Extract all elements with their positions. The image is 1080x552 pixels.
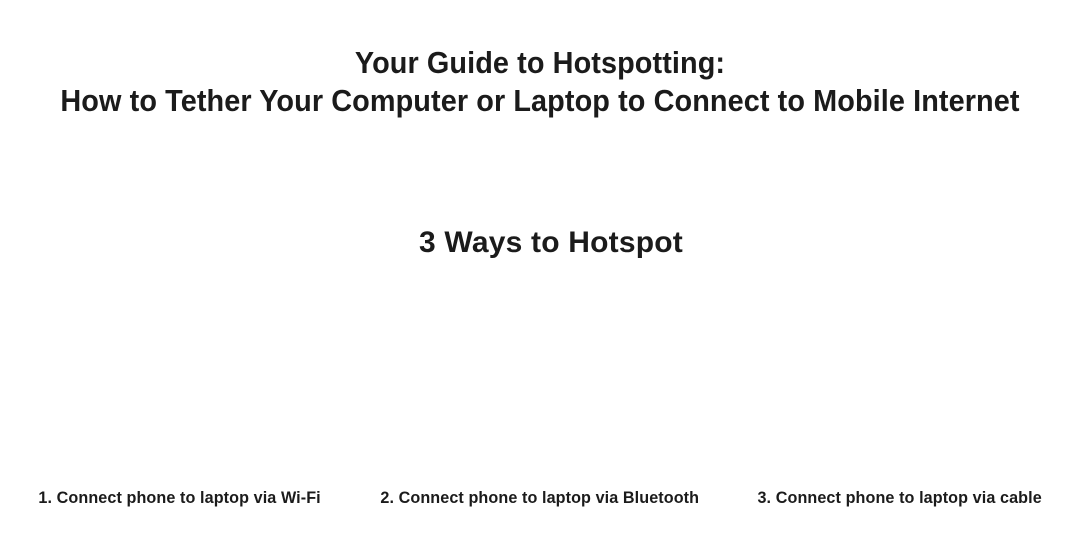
section-heading-label: 3 Ways to Hotspot (397, 224, 683, 262)
method-caption-cable: 3. Connect phone to laptop via cable (758, 486, 1042, 510)
page-title-line-1: Your Guide to Hotspotting: (38, 44, 1042, 82)
method-item-bluetooth: 2. Connect phone to laptop via Bluetooth (360, 486, 720, 510)
method-item-wifi: 1. Connect phone to laptop via Wi-Fi (0, 486, 360, 510)
illustration-slot-bluetooth (360, 278, 720, 478)
page-title: Your Guide to Hotspotting: How to Tether… (0, 44, 1080, 120)
illustration-area (0, 278, 1080, 478)
illustration-slot-wifi (0, 278, 360, 478)
infographic-page: Your Guide to Hotspotting: How to Tether… (0, 0, 1080, 552)
method-caption-bluetooth: 2. Connect phone to laptop via Bluetooth (381, 486, 700, 510)
illustration-slot-cable (720, 278, 1080, 478)
section-heading: 3 Ways to Hotspot (0, 224, 1080, 262)
method-caption-wifi: 1. Connect phone to laptop via Wi-Fi (39, 486, 321, 510)
page-title-line-2: How to Tether Your Computer or Laptop to… (38, 82, 1042, 120)
method-caption-row: 1. Connect phone to laptop via Wi-Fi 2. … (0, 486, 1080, 516)
method-item-cable: 3. Connect phone to laptop via cable (720, 486, 1080, 510)
